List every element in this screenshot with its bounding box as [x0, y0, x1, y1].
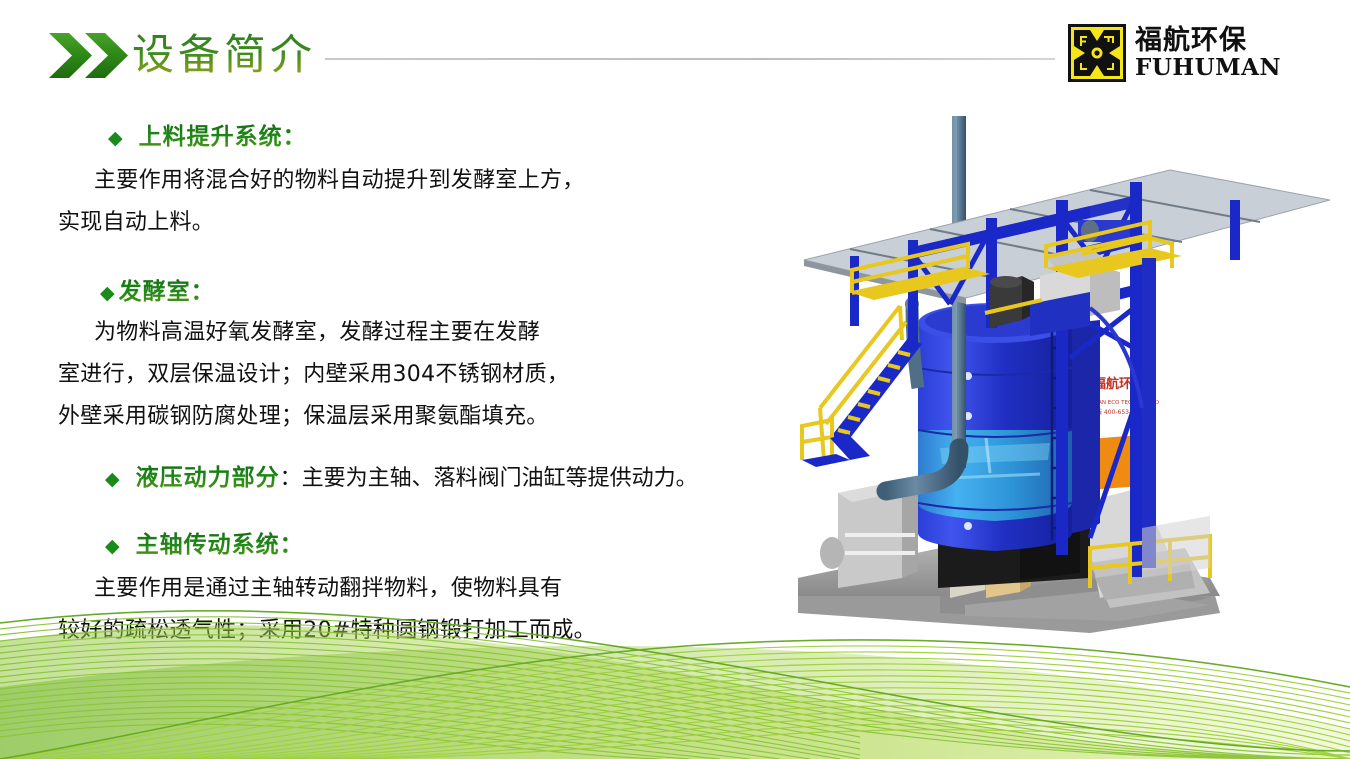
- brand-name-cn: 福航环保: [1135, 26, 1281, 55]
- fuhuman-emblem-icon: [1068, 24, 1126, 82]
- brand-name-en: FUHUMAN: [1135, 55, 1281, 80]
- title-divider: [325, 58, 1055, 60]
- section-3-inline-body: ：主要为主轴、落料阀门油缸等提供动力。: [280, 464, 698, 494]
- double-chevron-icon: [47, 32, 133, 79]
- section-2-heading: ◆ 发酵室：: [100, 277, 215, 308]
- brand-wordmark: 福航环保 FUHUMAN: [1135, 26, 1281, 80]
- section-3: ◆ 液压动力部分 ：主要为主轴、落料阀门油缸等提供动力。: [105, 463, 698, 494]
- section-3-heading-text: 液压动力部分: [136, 463, 280, 493]
- section-1-heading: ◆ 上料提升系统：: [108, 122, 307, 153]
- section-1: ◆ 上料提升系统：: [108, 122, 307, 153]
- section-3-heading: ◆ 液压动力部分 ：主要为主轴、落料阀门油缸等提供动力。: [105, 463, 698, 494]
- section-4: ◆ 主轴传动系统：: [105, 530, 304, 561]
- fermentation-tank-3d-render: 福航环保 FUHUMAN ECO TECH CO.,LTD 服务专线 400-6…: [790, 108, 1330, 633]
- diamond-bullet-icon: ◆: [105, 531, 120, 561]
- slide-header: 设备简介 福航环保 FUHUMAN: [0, 0, 1350, 105]
- section-1-body-text: 主要作用将混合好的物料自动提升到发酵室上方， 实现自动上料。: [58, 168, 585, 235]
- section-2: ◆ 发酵室：: [100, 277, 215, 308]
- section-4-heading: ◆ 主轴传动系统：: [105, 530, 304, 561]
- diamond-bullet-icon: ◆: [100, 278, 115, 308]
- diamond-bullet-icon: ◆: [105, 464, 120, 494]
- section-2-heading-text: 发酵室：: [119, 277, 215, 307]
- slide-root: 设备简介 福航环保 FUHUMAN: [0, 0, 1350, 759]
- access-staircase: [802, 306, 922, 467]
- section-4-heading-text: 主轴传动系统：: [136, 530, 304, 560]
- decorative-green-waves: [0, 579, 1350, 759]
- diamond-bullet-icon: ◆: [108, 123, 123, 153]
- section-1-body: 主要作用将混合好的物料自动提升到发酵室上方， 实现自动上料。: [58, 160, 758, 244]
- section-2-body-text: 为物料高温好氧发酵室，发酵过程主要在发酵 室进行，双层保温设计；内壁采用304不…: [58, 320, 569, 429]
- brand-logo: 福航环保 FUHUMAN: [1068, 22, 1268, 84]
- section-1-heading-text: 上料提升系统：: [139, 122, 307, 152]
- page-title: 设备简介: [132, 28, 316, 82]
- section-2-body: 为物料高温好氧发酵室，发酵过程主要在发酵 室进行，双层保温设计；内壁采用304不…: [58, 312, 778, 438]
